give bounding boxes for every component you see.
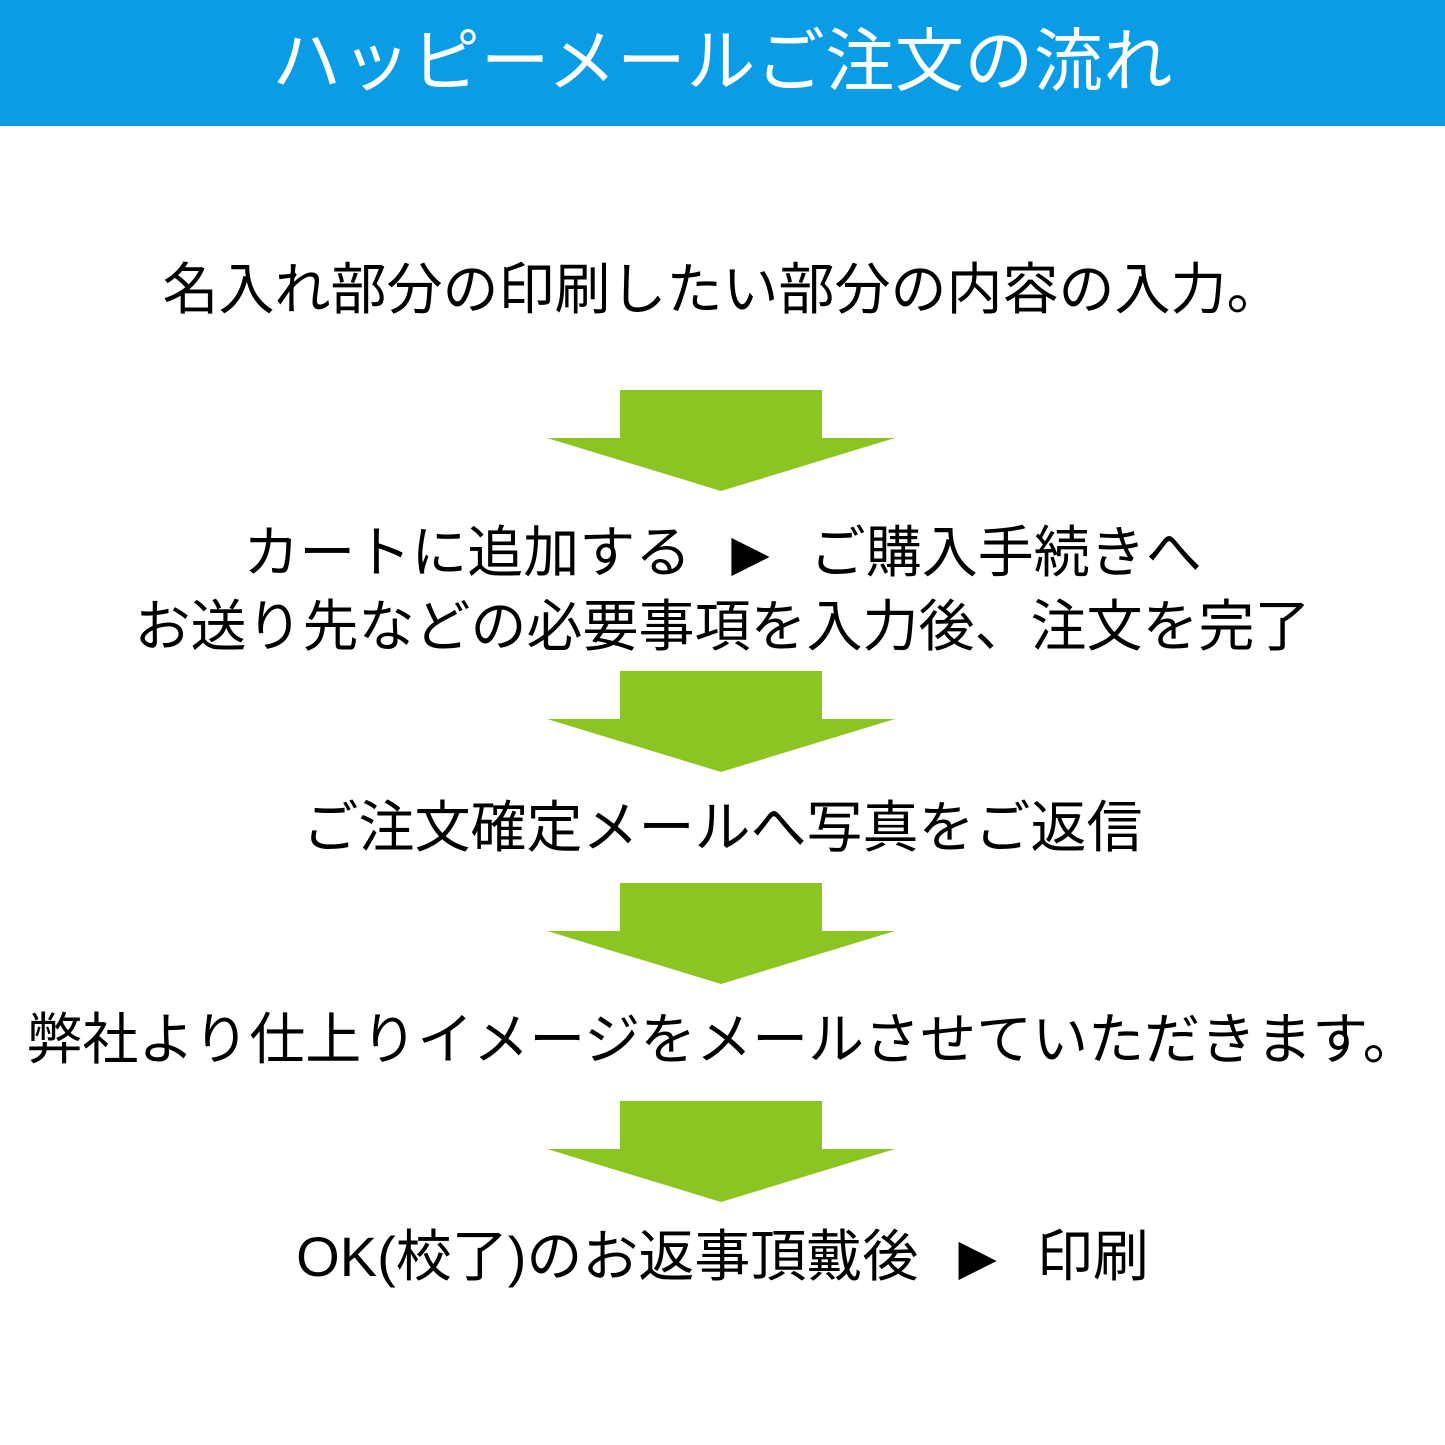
- page-title: ハッピーメールご注文の流れ: [272, 27, 1173, 96]
- flow-step-1: 名入れ部分の印刷したい部分の内容の入力。: [0, 253, 1445, 327]
- right-triangle-icon: ▶: [717, 528, 783, 578]
- down-arrow-icon: [547, 1101, 895, 1202]
- flow-step-2-line-2: お送り先などの必要事項を入力後、注文を完了: [0, 590, 1445, 664]
- right-triangle-icon: ▶: [944, 1232, 1010, 1282]
- flow-step-2-line-1: カートに追加する▶ご購入手続きへ: [0, 516, 1445, 590]
- flow-step-4-text: 弊社より仕上りイメージをメールさせていただきます。: [0, 1003, 1445, 1077]
- flow-step-1-text: 名入れ部分の印刷したい部分の内容の入力。: [0, 253, 1445, 327]
- flow-step-4: 弊社より仕上りイメージをメールさせていただきます。: [0, 1003, 1445, 1077]
- order-flow-infographic: ハッピーメールご注文の流れ 名入れ部分の印刷したい部分の内容の入力。 カートに追…: [0, 0, 1445, 1445]
- flow-step-3: ご注文確定メールへ写真をご返信: [0, 791, 1445, 865]
- down-arrow-icon: [547, 883, 895, 984]
- down-arrow-icon: [547, 390, 895, 491]
- flow-step-5-print-label: 印刷: [1037, 1225, 1149, 1288]
- flow-step-5-approval-label: OK(校了)のお返事頂戴後: [296, 1225, 918, 1288]
- flow-step-3-text: ご注文確定メールへ写真をご返信: [0, 791, 1445, 865]
- flow-step-5: OK(校了)のお返事頂戴後▶印刷: [0, 1220, 1445, 1294]
- flow-step-5-line-1: OK(校了)のお返事頂戴後▶印刷: [0, 1220, 1445, 1294]
- down-arrow-icon: [547, 671, 895, 772]
- flow-step-2-cart-label: カートに追加する: [243, 521, 691, 584]
- header-bar: ハッピーメールご注文の流れ: [0, 0, 1445, 126]
- flow-step-2-checkout-label: ご購入手続きへ: [810, 521, 1202, 584]
- flow-container: 名入れ部分の印刷したい部分の内容の入力。 カートに追加する▶ご購入手続きへ お送…: [0, 126, 1445, 1445]
- flow-step-2: カートに追加する▶ご購入手続きへ お送り先などの必要事項を入力後、注文を完了: [0, 516, 1445, 664]
